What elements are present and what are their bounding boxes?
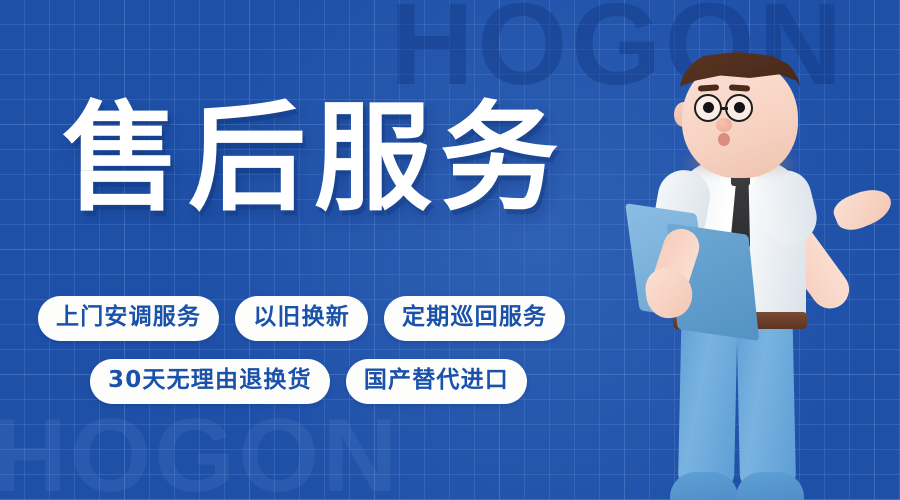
feature-pill-regular-inspection[interactable]: 定期巡回服务 [384, 296, 565, 341]
watermark-bottom: HOGON [0, 404, 401, 500]
feature-pill-group: 上门安调服务 以旧换新 定期巡回服务 30天无理由退换货 国产替代进口 [38, 296, 581, 404]
character-illustration [612, 40, 900, 500]
page-title: 售后服务 [62, 92, 566, 224]
hand-right [830, 182, 897, 235]
feature-pill-row-2: 30天无理由退换货 国产替代进口 [90, 359, 581, 404]
feature-pill-domestic-substitute[interactable]: 国产替代进口 [346, 359, 527, 404]
glasses-bridge [720, 107, 728, 110]
shoe-right [736, 472, 804, 500]
pupil-right [734, 102, 745, 113]
pupil-left [703, 102, 714, 113]
feature-pill-30day-return[interactable]: 30天无理由退换货 [90, 359, 330, 404]
feature-pill-row-1: 上门安调服务 以旧换新 定期巡回服务 [38, 296, 581, 341]
shoe-left [670, 472, 738, 500]
mouth [718, 133, 730, 146]
feature-pill-trade-in[interactable]: 以旧换新 [235, 296, 368, 341]
nose [716, 118, 732, 132]
feature-pill-onsite-install[interactable]: 上门安调服务 [38, 296, 219, 341]
service-promo-banner: HOGON HOGON 售后服务 上门安调服务 以旧换新 定期巡回服务 30天无… [0, 0, 900, 500]
